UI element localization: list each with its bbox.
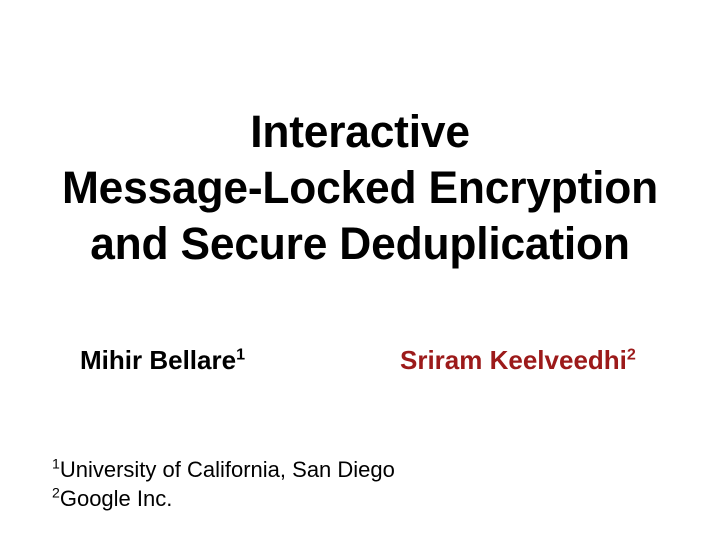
- affiliation-name: Google Inc.: [60, 486, 173, 511]
- affiliation-marker: 1: [52, 456, 60, 472]
- author-mihir-bellare: Mihir Bellare1: [80, 344, 245, 376]
- title-line-2: Message-Locked Encryption: [5, 160, 714, 216]
- author-name: Sriram Keelveedhi: [400, 345, 627, 375]
- author-name: Mihir Bellare: [80, 345, 236, 375]
- title-line-3: and Secure Deduplication: [5, 216, 714, 272]
- slide-title: Interactive Message-Locked Encryption an…: [0, 104, 720, 272]
- affiliation-marker: 2: [52, 485, 60, 501]
- author-sriram-keelveedhi: Sriram Keelveedhi2: [400, 344, 636, 376]
- author-affiliation-marker: 2: [627, 345, 636, 363]
- affiliation-item: 2Google Inc.: [52, 484, 672, 513]
- author-affiliation-marker: 1: [236, 345, 245, 363]
- affiliation-name: University of California, San Diego: [60, 457, 395, 482]
- affiliation-item: 1University of California, San Diego: [52, 455, 672, 484]
- title-slide: Interactive Message-Locked Encryption an…: [0, 0, 720, 540]
- title-line-1: Interactive: [5, 104, 714, 160]
- affiliations-list: 1University of California, San Diego 2Go…: [52, 455, 672, 513]
- authors-row: Mihir Bellare1 Sriram Keelveedhi2: [0, 344, 720, 384]
